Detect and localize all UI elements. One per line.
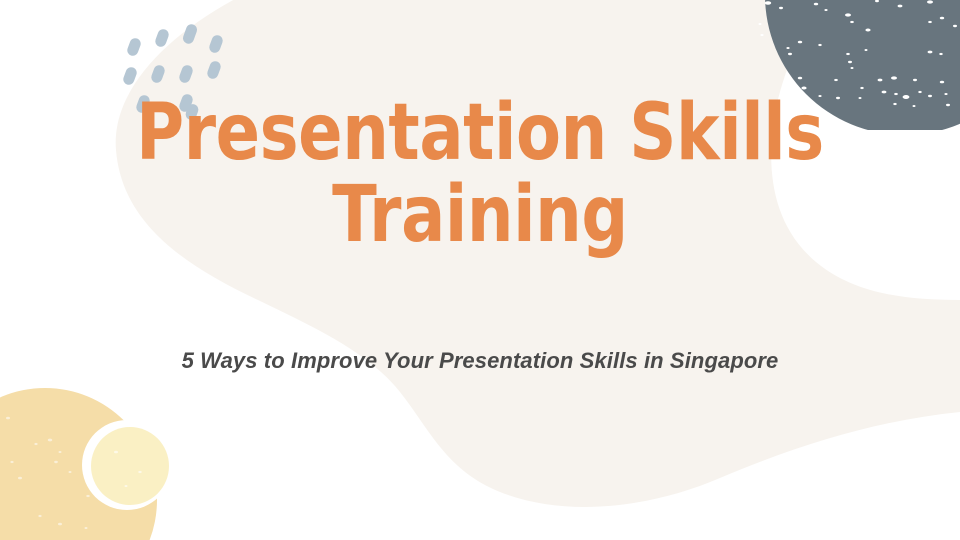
slide-content: Presentation Skills Training 5 Ways to I… — [0, 0, 960, 540]
title-line-1: Presentation Skills — [77, 95, 883, 171]
slide-subtitle: 5 Ways to Improve Your Presentation Skil… — [0, 348, 960, 374]
title-line-2: Training — [77, 177, 883, 253]
presentation-slide: Presentation Skills Training 5 Ways to I… — [0, 0, 960, 540]
slide-title: Presentation Skills Training — [0, 95, 960, 254]
